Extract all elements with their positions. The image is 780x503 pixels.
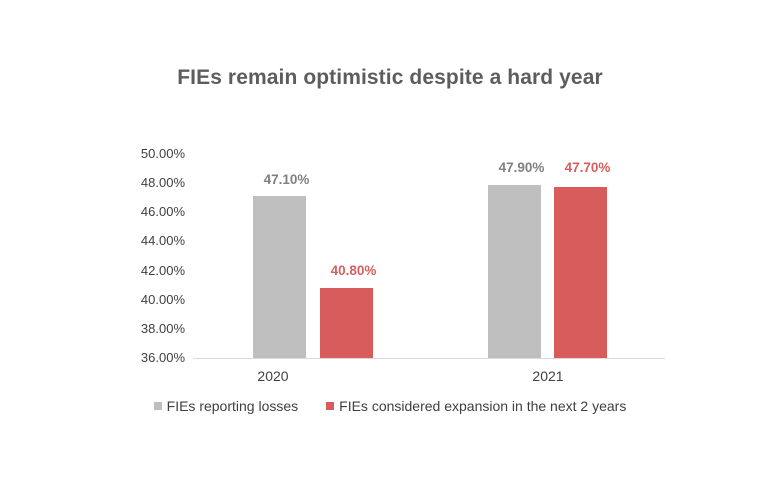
legend-swatch-icon — [326, 402, 334, 410]
bar-2020-fies-reporting-losses[interactable] — [253, 196, 306, 358]
x-axis-category-2020: 2020 — [233, 368, 313, 384]
data-label-2021-red: 47.70% — [547, 160, 628, 175]
bar-2020-fies-considered-expansion[interactable] — [320, 288, 373, 358]
legend-item-fies-reporting-losses[interactable]: FIEs reporting losses — [154, 398, 299, 414]
y-axis: 50.00% 48.00% 46.00% 44.00% 42.00% 40.00… — [123, 0, 185, 503]
data-label-2020-gray: 47.10% — [246, 172, 327, 187]
legend-swatch-icon — [154, 402, 162, 410]
legend-label: FIEs reporting losses — [167, 398, 299, 414]
chart-legend: FIEs reporting losses FIEs considered ex… — [0, 398, 780, 414]
x-axis-category-2021: 2021 — [508, 368, 588, 384]
y-axis-tick-label: 42.00% — [123, 264, 185, 277]
y-axis-tick-label: 44.00% — [123, 234, 185, 247]
y-axis-tick-label: 36.00% — [123, 351, 185, 364]
y-axis-tick-label: 46.00% — [123, 205, 185, 218]
data-label-2020-red: 40.80% — [313, 263, 394, 278]
y-axis-tick-label: 38.00% — [123, 322, 185, 335]
y-axis-tick-label: 40.00% — [123, 293, 185, 306]
y-axis-tick-label: 50.00% — [123, 147, 185, 160]
bar-2021-fies-reporting-losses[interactable] — [488, 185, 541, 358]
chart-title: FIEs remain optimistic despite a hard ye… — [0, 66, 780, 90]
y-axis-tick-label: 48.00% — [123, 176, 185, 189]
bar-2021-fies-considered-expansion[interactable] — [554, 187, 607, 358]
legend-label: FIEs considered expansion in the next 2 … — [339, 398, 626, 414]
legend-item-fies-considered-expansion[interactable]: FIEs considered expansion in the next 2 … — [326, 398, 626, 414]
x-axis-line — [193, 358, 665, 359]
bar-chart: FIEs remain optimistic despite a hard ye… — [0, 0, 780, 503]
